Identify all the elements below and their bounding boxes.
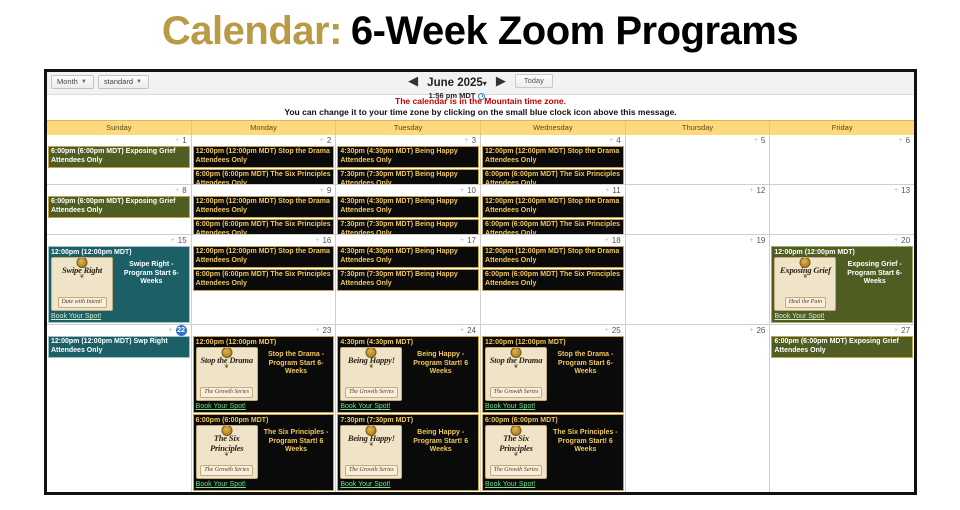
calendar-event-rich[interactable]: 12:00pm (12:00pm MDT)Exposing Grief❦Heal…	[771, 246, 913, 323]
next-month-button[interactable]: ▶	[496, 74, 506, 87]
event-label: 12:00pm (12:00pm MDT) Swp Right Attendee…	[51, 338, 168, 354]
day-number[interactable]: 23	[322, 326, 331, 335]
today-button[interactable]: Today	[515, 74, 553, 88]
day-number-row: +10	[336, 185, 480, 196]
event-label: 7:30pm (7:30pm MDT) Being Happy Attendee…	[340, 221, 457, 234]
event-list: 12:00pm (12:00pm MDT) Stop the Drama Att…	[192, 196, 336, 234]
event-list: 4:30pm (4:30pm MDT) Being Happy Attendee…	[336, 246, 480, 291]
calendar-widget: Month ▼ standard ▼ ◀ June 2025▾ 1:56 pm …	[44, 69, 917, 495]
day-cell-9[interactable]: +912:00pm (12:00pm MDT) Stop the Drama A…	[192, 185, 337, 234]
day-cell-11[interactable]: +1112:00pm (12:00pm MDT) Stop the Drama …	[481, 185, 626, 234]
calendar-event[interactable]: 12:00pm (12:00pm MDT) Swp Right Attendee…	[48, 336, 190, 358]
day-number-row: +23	[192, 325, 336, 336]
day-header-wednesday: Wednesday	[481, 121, 626, 135]
day-number-row: +16	[192, 235, 336, 246]
event-label: 4:30pm (4:30pm MDT) Being Happy Attendee…	[340, 248, 457, 264]
day-header-thursday: Thursday	[626, 121, 771, 135]
day-number-row: +5	[626, 135, 770, 146]
timezone-notice-line2: You can change it to your time zone by c…	[47, 107, 914, 118]
day-of-week-header: SundayMondayTuesdayWednesdayThursdayFrid…	[47, 120, 914, 135]
event-body: The Six Principles❦The Growth SeriesThe …	[196, 425, 332, 479]
add-event-icon[interactable]: +	[464, 137, 468, 144]
calendar-event[interactable]: 6:00pm (6:00pm MDT) The Six Principles A…	[482, 219, 624, 234]
calendar-grid: +16:00pm (6:00pm MDT) Exposing Grief Att…	[47, 135, 914, 492]
day-header-tuesday: Tuesday	[336, 121, 481, 135]
event-time: 6:00pm (6:00pm MDT)	[485, 416, 621, 425]
day-number[interactable]: 18	[612, 236, 621, 245]
day-cell-23[interactable]: +2312:00pm (12:00pm MDT)Stop the Drama❦T…	[192, 325, 337, 492]
event-label: 6:00pm (6:00pm MDT) Exposing Grief Atten…	[51, 148, 175, 164]
event-label: 6:00pm (6:00pm MDT) The Six Principles A…	[485, 221, 620, 234]
add-event-icon[interactable]: +	[320, 137, 324, 144]
event-list: 12:00pm (12:00pm MDT) Stop the Drama Att…	[192, 246, 336, 291]
program-scroll-image: Being Happy!❦The Growth Series	[340, 425, 402, 479]
calendar-event-rich[interactable]: 12:00pm (12:00pm MDT)Stop the Drama❦The …	[193, 336, 335, 413]
book-your-spot-link[interactable]: Book Your Spot!	[774, 311, 910, 321]
wax-seal-icon	[511, 425, 522, 436]
event-time: 12:00pm (12:00pm MDT)	[51, 248, 187, 257]
flourish-icon: ❦	[369, 443, 374, 448]
day-number[interactable]: 5	[761, 136, 765, 145]
flourish-icon: ❦	[803, 275, 808, 280]
day-number-row: +19	[626, 235, 770, 246]
wax-seal-icon	[511, 347, 522, 358]
event-title: The Six Principles - Program Start! 6 We…	[550, 425, 621, 455]
event-label: 6:00pm (6:00pm MDT) The Six Principles A…	[485, 271, 620, 287]
day-header-sunday: Sunday	[47, 121, 192, 135]
wax-seal-icon	[366, 425, 377, 436]
program-scroll-subtitle: The Growth Series	[345, 387, 398, 398]
program-scroll-subtitle: The Growth Series	[345, 465, 398, 476]
day-number[interactable]: 19	[756, 236, 765, 245]
add-event-icon[interactable]: +	[894, 187, 898, 194]
calendar-event[interactable]: 12:00pm (12:00pm MDT) Stop the Drama Att…	[193, 196, 335, 218]
event-label: 6:00pm (6:00pm MDT) The Six Principles A…	[196, 221, 331, 234]
day-number[interactable]: 12	[756, 186, 765, 195]
add-event-icon[interactable]: +	[315, 237, 319, 244]
event-list: 4:30pm (4:30pm MDT) Being Happy Attendee…	[336, 146, 480, 184]
calendar-event[interactable]: 6:00pm (6:00pm MDT) The Six Principles A…	[482, 269, 624, 291]
add-event-icon[interactable]: +	[460, 237, 464, 244]
event-title: Being Happy - Program Start! 6 Weeks	[405, 425, 476, 455]
calendar-event-rich[interactable]: 6:00pm (6:00pm MDT)The Six Principles❦Th…	[193, 414, 335, 491]
page-title-main: 6-Week Zoom Programs	[342, 9, 798, 54]
program-scroll-image: Stop the Drama❦The Growth Series	[196, 347, 258, 401]
add-event-icon[interactable]: +	[749, 237, 753, 244]
day-cell-24[interactable]: +244:30pm (4:30pm MDT)Being Happy!❦The G…	[336, 325, 481, 492]
event-label: 12:00pm (12:00pm MDT) Stop the Drama Att…	[196, 148, 330, 164]
calendar-event[interactable]: 12:00pm (12:00pm MDT) Stop the Drama Att…	[193, 246, 335, 268]
wax-seal-icon	[221, 425, 232, 436]
calendar-event[interactable]: 6:00pm (6:00pm MDT) The Six Principles A…	[193, 219, 335, 234]
day-number-row: +25	[481, 325, 625, 336]
event-list: 12:00pm (12:00pm MDT) Stop the Drama Att…	[192, 146, 336, 184]
event-body: Stop the Drama❦The Growth SeriesStop the…	[196, 347, 332, 401]
event-title: The Six Principles - Program Start! 6 We…	[261, 425, 332, 455]
day-cell-25[interactable]: +2512:00pm (12:00pm MDT)Stop the Drama❦T…	[481, 325, 626, 492]
event-list: 4:30pm (4:30pm MDT) Being Happy Attendee…	[336, 196, 480, 234]
calendar-event[interactable]: 6:00pm (6:00pm MDT) The Six Principles A…	[193, 169, 335, 184]
day-cell-2[interactable]: +212:00pm (12:00pm MDT) Stop the Drama A…	[192, 135, 337, 184]
event-title: Stop the Drama - Program Start 6-Weeks	[261, 347, 332, 377]
event-list: 12:00pm (12:00pm MDT) Stop the Drama Att…	[481, 146, 625, 184]
clock-icon[interactable]	[478, 93, 485, 100]
event-label: 12:00pm (12:00pm MDT) Stop the Drama Att…	[485, 148, 619, 164]
day-number-row: +26	[626, 325, 770, 336]
program-scroll-image: Being Happy!❦The Growth Series	[340, 347, 402, 401]
month-selector[interactable]: June 2025▾	[427, 77, 487, 89]
add-event-icon[interactable]: +	[315, 327, 319, 334]
event-body: Stop the Drama❦The Growth SeriesStop the…	[485, 347, 621, 401]
add-event-icon[interactable]: +	[460, 187, 464, 194]
flourish-icon: ❦	[79, 275, 84, 280]
calendar-week-row: +86:00pm (6:00pm MDT) Exposing Grief Att…	[47, 185, 914, 235]
calendar-event[interactable]: 12:00pm (12:00pm MDT) Stop the Drama Att…	[482, 146, 624, 168]
day-cell-19[interactable]: +19	[626, 235, 771, 324]
calendar-event[interactable]: 4:30pm (4:30pm MDT) Being Happy Attendee…	[337, 146, 479, 168]
event-body: Exposing Grief❦Heal the PainExposing Gri…	[774, 257, 910, 311]
calendar-event[interactable]: 12:00pm (12:00pm MDT) Stop the Drama Att…	[482, 196, 624, 218]
day-number[interactable]: 11	[612, 186, 620, 195]
calendar-event[interactable]: 12:00pm (12:00pm MDT) Stop the Drama Att…	[193, 146, 335, 168]
calendar-event[interactable]: 6:00pm (6:00pm MDT) The Six Principles A…	[193, 269, 335, 291]
event-label: 7:30pm (7:30pm MDT) Being Happy Attendee…	[340, 271, 457, 287]
book-your-spot-link[interactable]: Book Your Spot!	[196, 479, 332, 489]
program-scroll-image: Exposing Grief❦Heal the Pain	[774, 257, 836, 311]
add-event-icon[interactable]: +	[605, 327, 609, 334]
day-cell-8[interactable]: +86:00pm (6:00pm MDT) Exposing Grief Att…	[47, 185, 192, 234]
day-number[interactable]: 17	[467, 236, 476, 245]
calendar-toolbar: Month ▼ standard ▼ ◀ June 2025▾ 1:56 pm …	[47, 72, 914, 95]
month-label: June 2025	[427, 77, 483, 89]
calendar-event[interactable]: 6:00pm (6:00pm MDT) Exposing Grief Atten…	[48, 146, 190, 168]
event-list: 6:00pm (6:00pm MDT) Exposing Grief Atten…	[770, 336, 914, 358]
add-event-icon[interactable]: +	[754, 137, 758, 144]
event-time: 12:00pm (12:00pm MDT)	[774, 248, 910, 257]
event-list: 12:00pm (12:00pm MDT) Stop the Drama Att…	[481, 246, 625, 291]
calendar-event[interactable]: 6:00pm (6:00pm MDT) Exposing Grief Atten…	[48, 196, 190, 218]
day-cell-17[interactable]: +174:30pm (4:30pm MDT) Being Happy Atten…	[336, 235, 481, 324]
add-event-icon[interactable]: +	[169, 327, 173, 334]
flourish-icon: ❦	[224, 453, 229, 458]
day-number-row: +22	[47, 325, 191, 336]
day-number-row: +18	[481, 235, 625, 246]
event-label: 6:00pm (6:00pm MDT) Exposing Grief Atten…	[51, 198, 175, 214]
event-time: 12:00pm (12:00pm MDT)	[485, 338, 621, 347]
day-number[interactable]: 15	[178, 236, 187, 245]
current-time: 1:56 pm MDT	[427, 91, 487, 101]
calendar-week-row: +1512:00pm (12:00pm MDT)Swipe Right❦Date…	[47, 235, 914, 325]
event-list: 6:00pm (6:00pm MDT) Exposing Grief Atten…	[47, 196, 191, 218]
add-event-icon[interactable]: +	[894, 327, 898, 334]
event-list: 12:00pm (12:00pm MDT)Exposing Grief❦Heal…	[770, 246, 914, 323]
event-label: 7:30pm (7:30pm MDT) Being Happy Attendee…	[340, 171, 457, 184]
calendar-event-rich[interactable]: 12:00pm (12:00pm MDT)Swipe Right❦Date wi…	[48, 246, 190, 323]
event-body: Being Happy!❦The Growth SeriesBeing Happ…	[340, 425, 476, 479]
day-number-row: +3	[336, 135, 480, 146]
day-number-row: +2	[192, 135, 336, 146]
day-number-row: +15	[47, 235, 191, 246]
book-your-spot-link[interactable]: Book Your Spot!	[485, 479, 621, 489]
day-number[interactable]: 16	[322, 236, 331, 245]
event-label: 6:00pm (6:00pm MDT) The Six Principles A…	[196, 271, 331, 287]
day-cell-5[interactable]: +5	[626, 135, 771, 184]
calendar-event[interactable]: 6:00pm (6:00pm MDT) The Six Principles A…	[482, 169, 624, 184]
add-event-icon[interactable]: +	[605, 237, 609, 244]
event-time: 6:00pm (6:00pm MDT)	[196, 416, 332, 425]
calendar-event-rich[interactable]: 7:30pm (7:30pm MDT)Being Happy!❦The Grow…	[337, 414, 479, 491]
program-scroll-image: Swipe Right❦Date with Intent!	[51, 257, 113, 311]
day-number[interactable]: 10	[467, 186, 476, 195]
program-scroll-subtitle: Heal the Pain	[785, 297, 826, 308]
day-cell-12[interactable]: +12	[626, 185, 771, 234]
calendar-event-rich[interactable]: 6:00pm (6:00pm MDT)The Six Principles❦Th…	[482, 414, 624, 491]
book-your-spot-link[interactable]: Book Your Spot!	[340, 479, 476, 489]
add-event-icon[interactable]: +	[320, 187, 324, 194]
day-cell-22[interactable]: +2212:00pm (12:00pm MDT) Swp Right Atten…	[47, 325, 192, 492]
event-label: 6:00pm (6:00pm MDT) Exposing Grief Atten…	[774, 338, 898, 354]
event-label: 12:00pm (12:00pm MDT) Stop the Drama Att…	[196, 198, 330, 214]
page-title: Calendar: 6-Week Zoom Programs	[0, 0, 960, 62]
flourish-icon: ❦	[514, 453, 519, 458]
program-scroll-subtitle: The Growth Series	[200, 387, 253, 398]
event-body: The Six Principles❦The Growth SeriesThe …	[485, 425, 621, 479]
calendar-event[interactable]: 7:30pm (7:30pm MDT) Being Happy Attendee…	[337, 219, 479, 234]
event-title: Stop the Drama - Program Start 6-Weeks	[550, 347, 621, 377]
current-time-label: 1:56 pm MDT	[429, 91, 476, 101]
day-number[interactable]: 4	[616, 136, 620, 145]
day-number[interactable]: 9	[327, 186, 331, 195]
calendar-event[interactable]: 7:30pm (7:30pm MDT) Being Happy Attendee…	[337, 269, 479, 291]
book-your-spot-link[interactable]: Book Your Spot!	[51, 311, 187, 321]
day-number-row: +11	[481, 185, 625, 196]
day-number-row: +1	[47, 135, 191, 146]
program-scroll-subtitle: The Growth Series	[490, 387, 543, 398]
event-label: 12:00pm (12:00pm MDT) Stop the Drama Att…	[485, 248, 619, 264]
event-list: 12:00pm (12:00pm MDT)Stop the Drama❦The …	[481, 336, 625, 491]
day-cell-27[interactable]: +276:00pm (6:00pm MDT) Exposing Grief At…	[770, 325, 914, 492]
day-cell-20[interactable]: +2012:00pm (12:00pm MDT)Exposing Grief❦H…	[770, 235, 914, 324]
wax-seal-icon	[800, 257, 811, 268]
calendar-event-rich[interactable]: 12:00pm (12:00pm MDT)Stop the Drama❦The …	[482, 336, 624, 413]
day-cell-4[interactable]: +412:00pm (12:00pm MDT) Stop the Drama A…	[481, 135, 626, 184]
day-number[interactable]: 20	[901, 236, 910, 245]
day-header-friday: Friday	[770, 121, 914, 135]
event-time: 7:30pm (7:30pm MDT)	[340, 416, 476, 425]
day-number[interactable]: 27	[901, 326, 910, 335]
event-list: 12:00pm (12:00pm MDT)Swipe Right❦Date wi…	[47, 246, 191, 323]
calendar-event[interactable]: 7:30pm (7:30pm MDT) Being Happy Attendee…	[337, 169, 479, 184]
day-number-row: +13	[770, 185, 914, 196]
day-number-row: +6	[770, 135, 914, 146]
day-number[interactable]: 13	[901, 186, 910, 195]
day-number[interactable]: 26	[756, 326, 765, 335]
day-number[interactable]: 1	[182, 136, 186, 145]
calendar-week-row: +16:00pm (6:00pm MDT) Exposing Grief Att…	[47, 135, 914, 185]
day-number-row: +12	[626, 185, 770, 196]
day-number[interactable]: 3	[472, 136, 476, 145]
day-number[interactable]: 2	[327, 136, 331, 145]
wax-seal-icon	[77, 257, 88, 268]
wax-seal-icon	[221, 347, 232, 358]
event-list: 12:00pm (12:00pm MDT) Swp Right Attendee…	[47, 336, 191, 358]
book-your-spot-link[interactable]: Book Your Spot!	[485, 401, 621, 411]
book-your-spot-link[interactable]: Book Your Spot!	[340, 401, 476, 411]
add-event-icon[interactable]: +	[894, 237, 898, 244]
day-number-row: +27	[770, 325, 914, 336]
add-event-icon[interactable]: +	[175, 137, 179, 144]
calendar-event-rich[interactable]: 4:30pm (4:30pm MDT)Being Happy!❦The Grow…	[337, 336, 479, 413]
add-event-icon[interactable]: +	[898, 137, 902, 144]
event-list: 12:00pm (12:00pm MDT)Stop the Drama❦The …	[192, 336, 336, 491]
event-list: 12:00pm (12:00pm MDT) Stop the Drama Att…	[481, 196, 625, 234]
event-label: 6:00pm (6:00pm MDT) The Six Principles A…	[196, 171, 331, 184]
day-cell-6[interactable]: +6	[770, 135, 914, 184]
page-title-accent: Calendar:	[162, 9, 342, 54]
day-cell-26[interactable]: +26	[626, 325, 771, 492]
event-label: 12:00pm (12:00pm MDT) Stop the Drama Att…	[485, 198, 619, 214]
day-number-row: +24	[336, 325, 480, 336]
calendar-event[interactable]: 4:30pm (4:30pm MDT) Being Happy Attendee…	[337, 196, 479, 218]
day-number-today[interactable]: 22	[176, 325, 187, 336]
day-cell-10[interactable]: +104:30pm (4:30pm MDT) Being Happy Atten…	[336, 185, 481, 234]
day-number-row: +9	[192, 185, 336, 196]
add-event-icon[interactable]: +	[749, 187, 753, 194]
day-header-monday: Monday	[192, 121, 337, 135]
calendar-week-row: +2212:00pm (12:00pm MDT) Swp Right Atten…	[47, 325, 914, 492]
flourish-icon: ❦	[514, 365, 519, 370]
program-scroll-subtitle: The Growth Series	[200, 465, 253, 476]
day-number-row: +8	[47, 185, 191, 196]
event-label: 4:30pm (4:30pm MDT) Being Happy Attendee…	[340, 198, 457, 214]
book-your-spot-link[interactable]: Book Your Spot!	[196, 401, 332, 411]
event-body: Being Happy!❦The Growth SeriesBeing Happ…	[340, 347, 476, 401]
calendar-event[interactable]: 6:00pm (6:00pm MDT) Exposing Grief Atten…	[771, 336, 913, 358]
day-cell-16[interactable]: +1612:00pm (12:00pm MDT) Stop the Drama …	[192, 235, 337, 324]
program-scroll-image: The Six Principles❦The Growth Series	[485, 425, 547, 479]
event-label: 4:30pm (4:30pm MDT) Being Happy Attendee…	[340, 148, 457, 164]
event-body: Swipe Right❦Date with Intent!Swipe Right…	[51, 257, 187, 311]
program-scroll-subtitle: The Growth Series	[490, 465, 543, 476]
add-event-icon[interactable]: +	[460, 327, 464, 334]
day-number[interactable]: 8	[182, 186, 186, 195]
add-event-icon[interactable]: +	[749, 327, 753, 334]
event-time: 12:00pm (12:00pm MDT)	[196, 338, 332, 347]
calendar-event[interactable]: 4:30pm (4:30pm MDT) Being Happy Attendee…	[337, 246, 479, 268]
day-cell-18[interactable]: +1812:00pm (12:00pm MDT) Stop the Drama …	[481, 235, 626, 324]
calendar-event[interactable]: 12:00pm (12:00pm MDT) Stop the Drama Att…	[482, 246, 624, 268]
event-list: 4:30pm (4:30pm MDT)Being Happy!❦The Grow…	[336, 336, 480, 491]
event-title: Being Happy - Program Start! 6 Weeks	[405, 347, 476, 377]
add-event-icon[interactable]: +	[175, 187, 179, 194]
day-number-row: +20	[770, 235, 914, 246]
add-event-icon[interactable]: +	[605, 187, 609, 194]
day-number-row: +17	[336, 235, 480, 246]
program-scroll-image: Stop the Drama❦The Growth Series	[485, 347, 547, 401]
day-cell-1[interactable]: +16:00pm (6:00pm MDT) Exposing Grief Att…	[47, 135, 192, 184]
prev-month-button[interactable]: ◀	[408, 74, 418, 87]
event-time: 4:30pm (4:30pm MDT)	[340, 338, 476, 347]
day-cell-3[interactable]: +34:30pm (4:30pm MDT) Being Happy Attend…	[336, 135, 481, 184]
day-cell-15[interactable]: +1512:00pm (12:00pm MDT)Swipe Right❦Date…	[47, 235, 192, 324]
program-scroll-subtitle: Date with Intent!	[58, 297, 107, 308]
event-label: 12:00pm (12:00pm MDT) Stop the Drama Att…	[196, 248, 330, 264]
program-scroll-image: The Six Principles❦The Growth Series	[196, 425, 258, 479]
add-event-icon[interactable]: +	[171, 237, 175, 244]
day-number-row: +4	[481, 135, 625, 146]
event-title: Exposing Grief - Program Start 6-Weeks	[839, 257, 910, 287]
add-event-icon[interactable]: +	[609, 137, 613, 144]
day-number[interactable]: 6	[906, 136, 910, 145]
flourish-icon: ❦	[224, 365, 229, 370]
chevron-down-icon: ▾	[483, 79, 487, 88]
event-label: 6:00pm (6:00pm MDT) The Six Principles A…	[485, 171, 620, 184]
day-number[interactable]: 24	[467, 326, 476, 335]
day-number[interactable]: 25	[612, 326, 621, 335]
day-cell-13[interactable]: +13	[770, 185, 914, 234]
flourish-icon: ❦	[369, 365, 374, 370]
date-block: June 2025▾ 1:56 pm MDT	[427, 73, 487, 101]
event-list: 6:00pm (6:00pm MDT) Exposing Grief Atten…	[47, 146, 191, 168]
wax-seal-icon	[366, 347, 377, 358]
event-title: Swipe Right - Program Start 6-Weeks	[116, 257, 187, 287]
